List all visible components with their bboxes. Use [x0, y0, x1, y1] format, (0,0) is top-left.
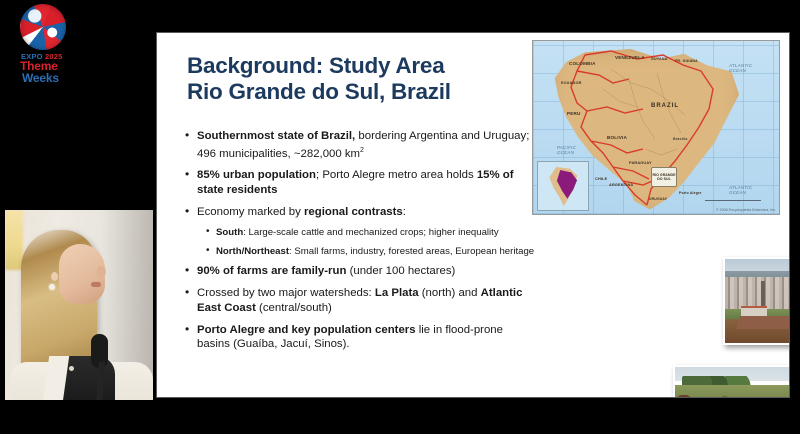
bullet-text-run: : Large-scale cattle and mechanized crop… [243, 227, 498, 238]
speaker-video-frame [5, 210, 153, 406]
photo-cattle-flooded-pasture [673, 365, 790, 398]
slide-sub-bullet: South: Large-scale cattle and mechanized… [205, 227, 535, 239]
bullet-text-run: : [403, 206, 406, 218]
bullet-text-run: North/Northeast [216, 246, 289, 257]
map-label-atlantic-ocean-south: ATLANTICOCEAN [729, 185, 752, 195]
map-label-venezuela: VENEZUELA [615, 55, 645, 60]
bullet-text-run: Economy marked by [197, 206, 304, 218]
map-label-ecuador: ECUADOR [561, 81, 582, 85]
slide-bullet: Crossed by two major watersheds: La Plat… [183, 286, 535, 315]
bullet-text-run: regional contrasts [304, 206, 403, 218]
slide-title-line-2: Rio Grande do Sul, Brazil [187, 79, 547, 105]
map-label-colombia: COLOMBIA [569, 61, 596, 66]
bullet-text-run: Crossed by two major watersheds: [197, 287, 375, 299]
map-label-bolivia: BOLIVIA [607, 135, 627, 140]
presentation-slide[interactable]: Background: Study Area Rio Grande do Sul… [156, 32, 790, 398]
slide-bullet: 90% of farms are family-run (under 100 h… [183, 264, 535, 279]
bullet-text-run: (under 100 hectares) [346, 265, 455, 277]
expo-2025-theme-weeks-logo: EXPO 2025 Theme Weeks [8, 2, 80, 82]
slide-title-line-1: Background: Study Area [187, 53, 547, 79]
map-label-brasilia: Brasilia [673, 137, 688, 141]
south-america-map-brazil-highlighted: COLOMBIA VENEZUELA GUYANA FR. GUIANA ECU… [532, 40, 780, 215]
slide-title: Background: Study Area Rio Grande do Sul… [187, 53, 547, 105]
bullet-text-run: 2 [360, 147, 364, 154]
screen: EXPO 2025 Theme Weeks Bac [0, 0, 800, 434]
city-dock [737, 316, 790, 329]
map-label-argentina: ARGENTINA [609, 183, 633, 187]
slide-bullet-list: Southernmost state of Brazil, bordering … [183, 129, 535, 360]
bullet-text-run: La Plata [375, 287, 419, 299]
globe-icon [20, 4, 66, 50]
map-label-porto-alegre: Porto Alegre [679, 191, 702, 195]
map-label-chile: CHILE [595, 177, 607, 181]
slide-bullet: Economy marked by regional contrasts: [183, 205, 535, 220]
map-label-paraguay: PARAGUAY [629, 161, 652, 165]
map-inset-brazil-locator [537, 161, 589, 211]
bullet-text-run: ; Porto Alegre metro area holds [316, 169, 477, 181]
map-callout-rio-grande-do-sul: RIO GRANDEDO SUL [651, 167, 677, 187]
slide-bullet: 85% urban population; Porto Alegre metro… [183, 168, 535, 197]
map-scale-bar [705, 196, 761, 204]
bullet-text-run: (central/south) [256, 302, 332, 314]
map-label-atlantic-ocean-north: ATLANTICOCEAN [729, 63, 752, 73]
bullet-text-run: (north) and [419, 287, 481, 299]
slide-bullet: Southernmost state of Brazil, bordering … [183, 129, 535, 161]
map-label-pacific-ocean: PACIFICOCEAN [557, 145, 576, 155]
bullet-text-run: : Small farms, industry, forested areas,… [289, 246, 534, 257]
map-credit: © 2008 Encyclopædia Britannica, Inc. [716, 208, 776, 212]
map-label-peru: PERU [567, 111, 581, 116]
bullet-text-run: 85% urban population [197, 169, 316, 181]
photo-porto-alegre-cityscape [723, 257, 790, 345]
logo-weeks-text: Weeks [22, 71, 59, 85]
bullet-text-run: Porto Alegre and key population centers [197, 324, 416, 336]
map-label-french-guiana: FR. GUIANA [675, 59, 698, 63]
pasture-cattle-herd [677, 395, 734, 398]
speaker-video-tile[interactable] [5, 210, 153, 406]
slide-sub-bullet: North/Northeast: Small farms, industry, … [205, 246, 535, 258]
map-label-brazil: BRAZIL [651, 103, 679, 109]
bullet-text-run: Southernmost state of Brazil, [197, 130, 355, 142]
bullet-text-run: South [216, 227, 243, 238]
speaker-lips [91, 282, 101, 287]
bullet-text-run: 90% of farms are family-run [197, 265, 346, 277]
map-label-uruguay: URUGUAY [649, 197, 667, 201]
slide-bullet: Porto Alegre and key population centers … [183, 323, 535, 352]
letterbox-bottom [0, 400, 800, 434]
map-label-guyana: GUYANA [651, 57, 667, 61]
speaker-necklace [69, 366, 74, 371]
slide-content: Background: Study Area Rio Grande do Sul… [157, 33, 789, 397]
